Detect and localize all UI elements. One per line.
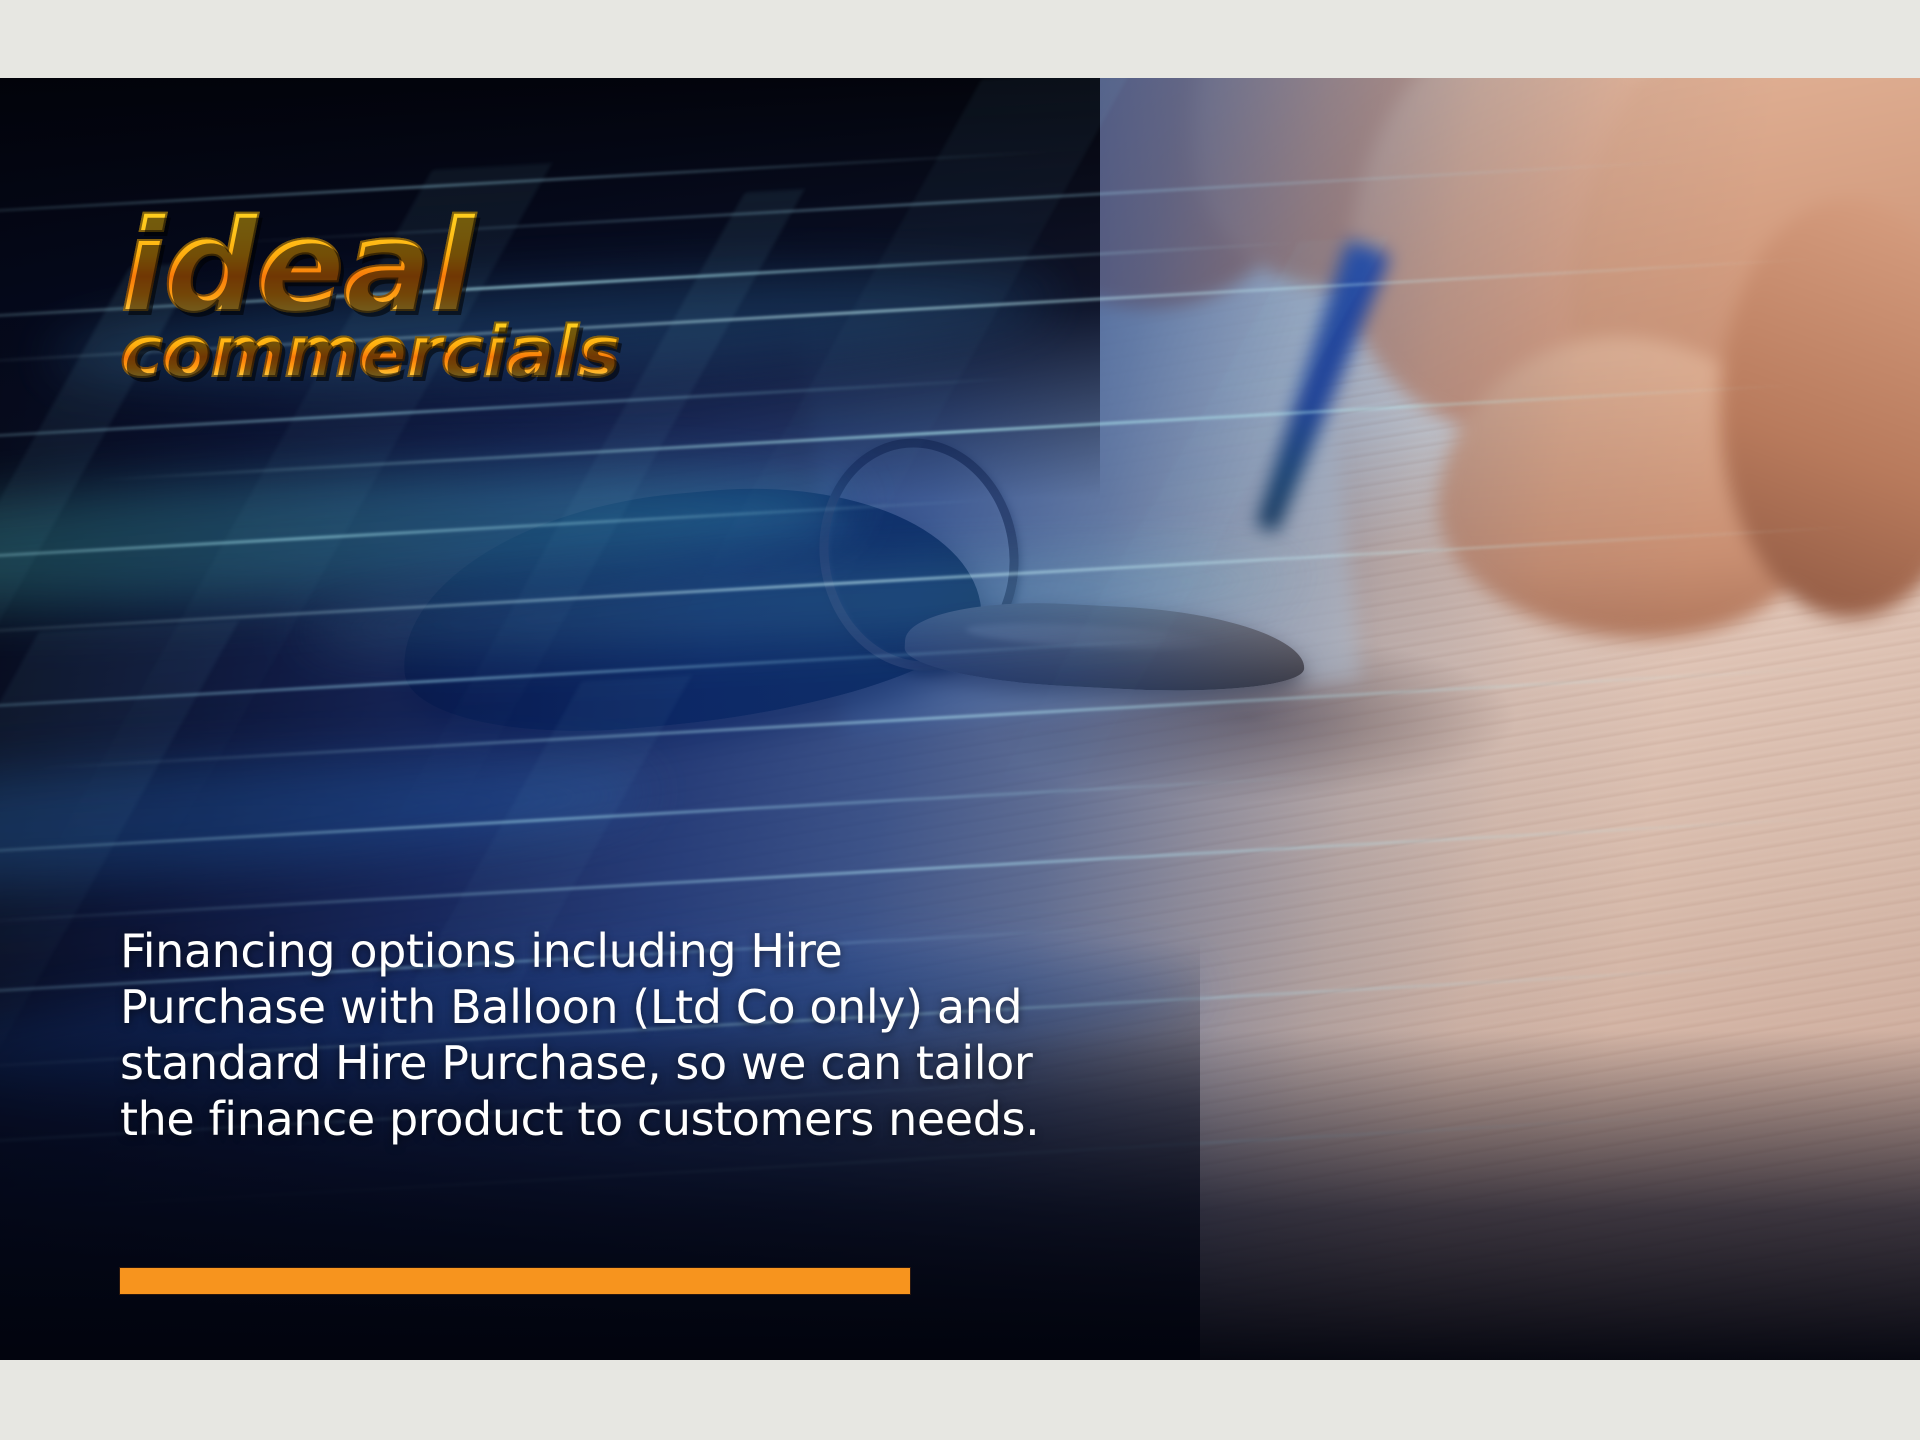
- banner-slide: ideal commercials Financing options incl…: [0, 78, 1920, 1360]
- brand-logo: ideal commercials: [120, 208, 640, 384]
- body-copy-line-3: standard Hire Purchase, so we can tailor: [120, 1035, 1000, 1091]
- body-copy-line-4: the finance product to customers needs.: [120, 1091, 1000, 1147]
- body-copy: Financing options including Hire Purchas…: [120, 923, 1000, 1147]
- logo-secondary-text: commercials: [120, 320, 656, 384]
- accent-rule: [120, 1268, 910, 1294]
- logo-primary-text: ideal: [120, 208, 656, 326]
- body-copy-line-1: Financing options including Hire: [120, 923, 1000, 979]
- body-copy-line-2: Purchase with Balloon (Ltd Co only) and: [120, 979, 1000, 1035]
- page-canvas: ideal commercials Financing options incl…: [0, 0, 1920, 1440]
